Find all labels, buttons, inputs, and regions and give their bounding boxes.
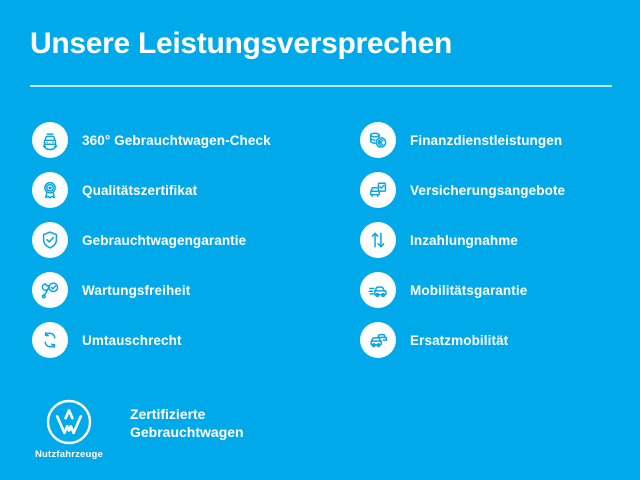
list-item: Inzahlungnahme — [360, 222, 565, 258]
list-item-label: Ersatzmobilität — [410, 333, 508, 348]
up-down-arrows-icon — [360, 222, 396, 258]
award-rosette-icon — [32, 172, 68, 208]
list-item-label: Umtauschrecht — [82, 333, 182, 348]
car-360-check-icon — [32, 122, 68, 158]
list-item-label: Versicherungsangebote — [410, 183, 565, 198]
promo-poster: Unsere Leistungsversprechen 360° Gebrauc… — [0, 0, 640, 480]
list-item-label: Finanzdienstleistungen — [410, 133, 562, 148]
list-item-label: Gebrauchtwagengarantie — [82, 233, 246, 248]
two-cars-icon — [360, 322, 396, 358]
volkswagen-logo — [45, 398, 93, 446]
list-item-label: Qualitätszertifikat — [82, 183, 197, 198]
list-item: Qualitätszertifikat — [32, 172, 271, 208]
list-item-label: Mobilitätsgarantie — [410, 283, 527, 298]
list-item: Gebrauchtwagengarantie — [32, 222, 271, 258]
page-title: Unsere Leistungsversprechen — [30, 29, 452, 59]
list-item: Versicherungsangebote — [360, 172, 565, 208]
shield-check-icon — [32, 222, 68, 258]
car-speed-icon — [360, 272, 396, 308]
list-item: Mobilitätsgarantie — [360, 272, 565, 308]
footer-text-line1: Zertifizierte — [130, 406, 244, 424]
logo-block: Nutzfahrzeuge — [32, 398, 106, 460]
list-item: 360° Gebrauchtwagen-Check — [32, 122, 271, 158]
benefits-column-left: 360° Gebrauchtwagen-Check Qualitätszerti… — [32, 122, 271, 372]
list-item: Finanzdienstleistungen — [360, 122, 565, 158]
list-item: Wartungsfreiheit — [32, 272, 271, 308]
car-document-check-icon — [360, 172, 396, 208]
coins-euro-icon — [360, 122, 396, 158]
logo-subtitle: Nutzfahrzeuge — [35, 449, 103, 460]
footer-branding: Nutzfahrzeuge Zertifizierte Gebrauchtwag… — [32, 398, 244, 460]
list-item: Umtauschrecht — [32, 322, 271, 358]
list-item: Ersatzmobilität — [360, 322, 565, 358]
wrench-check-icon — [32, 272, 68, 308]
list-item-label: 360° Gebrauchtwagen-Check — [82, 133, 271, 148]
list-item-label: Inzahlungnahme — [410, 233, 518, 248]
footer-text-line2: Gebrauchtwagen — [130, 424, 244, 442]
footer-text: Zertifizierte Gebrauchtwagen — [130, 406, 244, 442]
exchange-arrows-icon — [32, 322, 68, 358]
list-item-label: Wartungsfreiheit — [82, 283, 190, 298]
title-divider — [30, 85, 612, 87]
benefits-column-right: Finanzdienstleistungen Versicherungsange… — [360, 122, 565, 372]
